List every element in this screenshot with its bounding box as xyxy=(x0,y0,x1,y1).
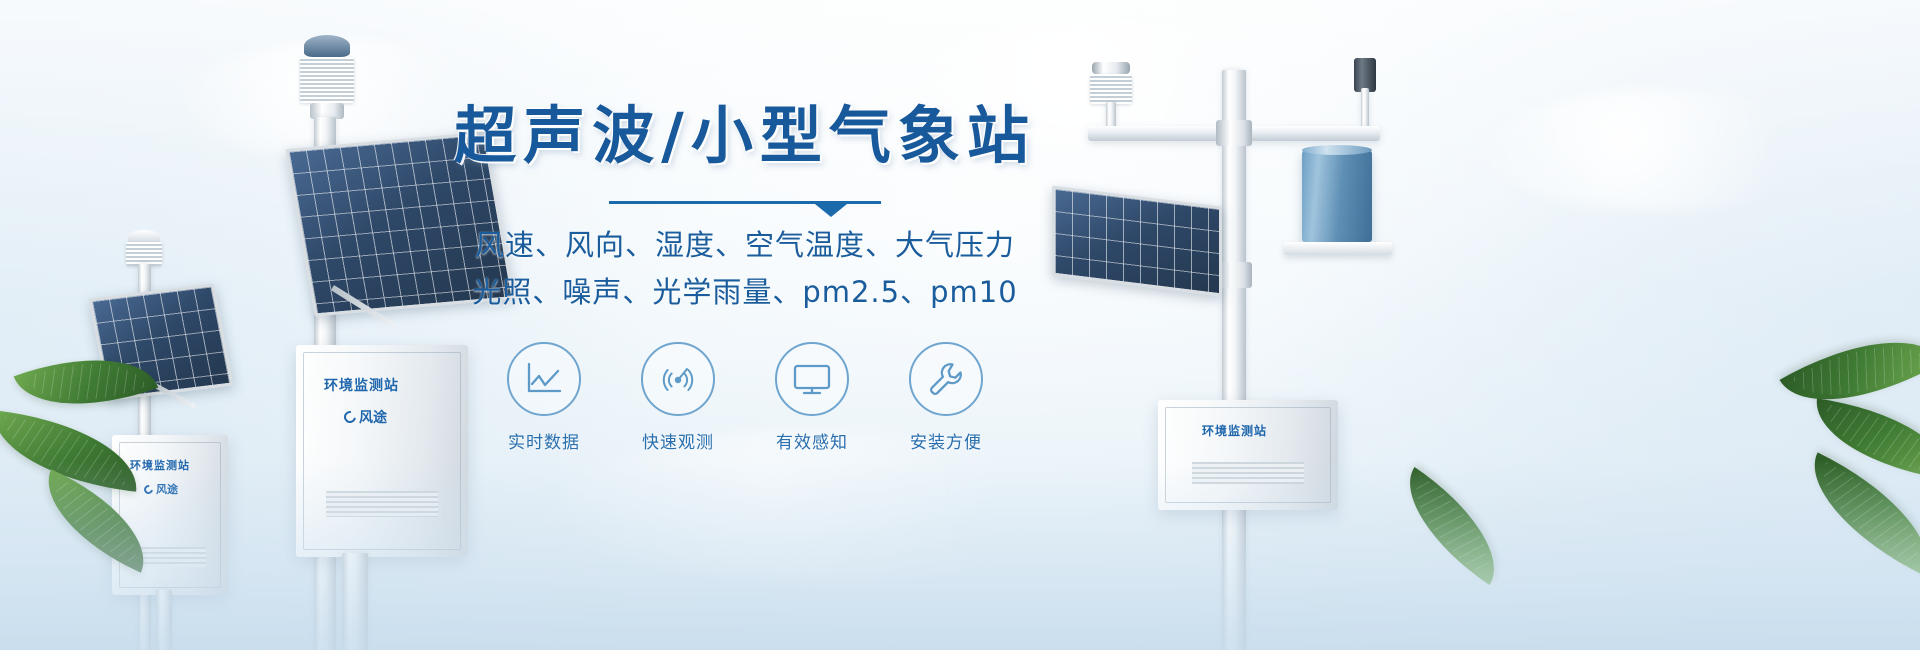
divider-triangle-icon xyxy=(815,204,847,217)
brand-logo: 风途 xyxy=(344,407,387,427)
monitor-display-icon xyxy=(791,361,833,397)
radiation-shield xyxy=(300,57,354,103)
mast-collar xyxy=(1216,120,1252,146)
radar-signal-icon xyxy=(658,359,698,399)
page-title: 超声波/小型气象站 xyxy=(445,100,1045,171)
brand-mark-icon xyxy=(342,409,359,426)
banner-content: 超声波/小型气象站 风速、风向、湿度、空气温度、大气压力 光照、噪声、光学雨量、… xyxy=(445,100,1045,453)
line-chart-icon xyxy=(524,360,564,398)
feature-list: 实时数据 快速观测 xyxy=(445,342,1045,453)
radiation-shield xyxy=(126,242,162,266)
feature-item-fast-observation[interactable]: 快速观测 xyxy=(632,342,724,453)
radiation-shield xyxy=(1090,74,1132,104)
sensor-shelf xyxy=(1284,242,1392,255)
subtitle-line-2: 光照、噪声、光学雨量、pm2.5、pm10 xyxy=(445,269,1045,316)
rain-gauge-sensor xyxy=(1302,150,1372,242)
feature-icon-circle xyxy=(909,342,983,416)
feature-label: 有效感知 xyxy=(766,428,858,453)
feature-item-realtime-data[interactable]: 实时数据 xyxy=(498,342,590,453)
title-divider xyxy=(609,201,881,204)
wind-vane-sensor xyxy=(1354,58,1376,92)
solar-panel xyxy=(1052,186,1222,297)
sensor-stem xyxy=(1106,102,1116,128)
feature-icon-circle xyxy=(507,342,581,416)
feature-label: 安装方便 xyxy=(900,428,992,453)
cabinet-label: 环境监测站 xyxy=(324,375,399,395)
feature-icon-circle xyxy=(641,342,715,416)
feature-item-easy-install[interactable]: 安装方便 xyxy=(900,342,992,453)
vane-stem xyxy=(1361,88,1369,128)
wrench-icon xyxy=(926,359,966,399)
brand-name: 风途 xyxy=(359,407,387,427)
feature-label: 快速观测 xyxy=(632,428,724,453)
sensor-dome-icon xyxy=(304,35,350,57)
ground-haze xyxy=(0,460,1920,650)
ultrasonic-wind-sensor xyxy=(1092,62,1130,74)
feature-item-effective-sensing[interactable]: 有效感知 xyxy=(766,342,858,453)
feature-icon-circle xyxy=(775,342,849,416)
product-banner: 环境监测站 风途 环境监测站 风途 xyxy=(0,0,1920,650)
feature-label: 实时数据 xyxy=(498,428,590,453)
cabinet-label: 环境监测站 xyxy=(1202,422,1267,439)
cloud-decoration xyxy=(1480,90,1840,210)
subtitle-group: 风速、风向、湿度、空气温度、大气压力 光照、噪声、光学雨量、pm2.5、pm10 xyxy=(445,222,1045,316)
subtitle-line-1: 风速、风向、湿度、空气温度、大气压力 xyxy=(445,222,1045,269)
